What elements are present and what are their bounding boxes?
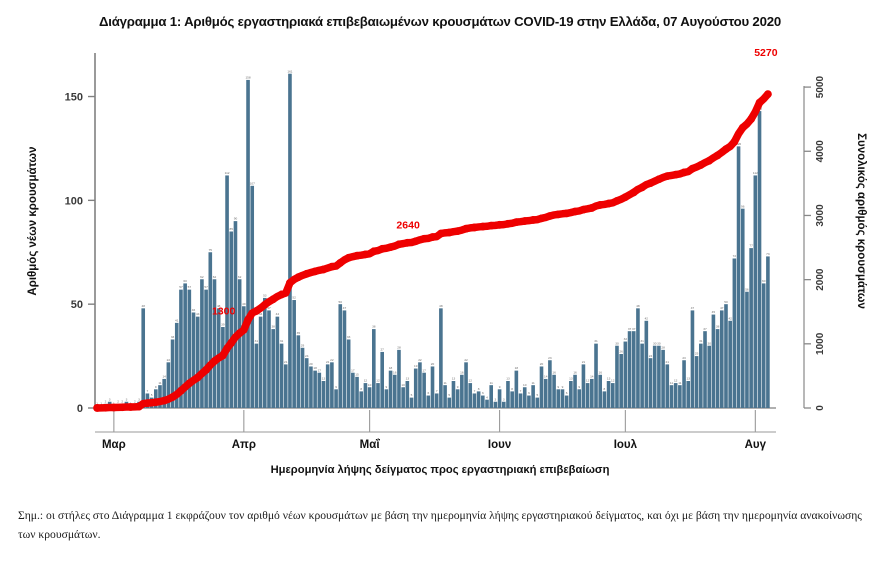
bar — [221, 327, 225, 408]
bar — [691, 310, 695, 408]
cumulative-point — [211, 357, 219, 365]
cumulative-point — [521, 217, 529, 225]
cumulative-point — [747, 115, 755, 123]
bar — [389, 371, 393, 408]
tick-label: Αυγ — [745, 439, 767, 451]
bar — [422, 373, 426, 408]
bar — [468, 383, 472, 408]
bar — [754, 175, 758, 408]
bar — [460, 375, 464, 408]
bar-value-label: 60 — [762, 279, 766, 283]
bar — [573, 375, 577, 408]
bar — [766, 256, 770, 408]
bar — [670, 385, 674, 408]
cumulative-point — [261, 301, 269, 309]
bar — [657, 346, 661, 408]
bar — [569, 381, 573, 408]
bar — [213, 279, 217, 408]
bar — [276, 317, 280, 408]
cumulative-point — [756, 99, 764, 107]
bar — [523, 387, 527, 408]
bar — [188, 290, 192, 408]
bar — [649, 358, 653, 408]
bar-value-label: 52 — [292, 296, 296, 300]
bar — [762, 283, 766, 408]
bar-value-label: 6 — [566, 391, 568, 395]
bar — [548, 360, 552, 408]
bar — [280, 344, 284, 408]
bar-value-label: 9 — [155, 385, 157, 389]
bar-value-label: 31 — [594, 339, 598, 343]
bar-value-label: 38 — [271, 325, 275, 329]
bar-value-label: 77 — [749, 244, 753, 248]
bar-value-label: 8 — [360, 387, 362, 391]
bar — [288, 74, 292, 408]
bar — [640, 344, 644, 408]
bar-value-label: 38 — [716, 325, 720, 329]
bar-value-label: 18 — [389, 366, 393, 370]
cumulative-point — [613, 197, 621, 205]
bar — [452, 381, 456, 408]
bar-value-label: 6 — [482, 391, 484, 395]
bar — [615, 346, 619, 408]
line-annotation: 1300 — [212, 306, 236, 318]
bar-value-label: 19 — [414, 364, 418, 368]
bar-value-label: 50 — [724, 300, 728, 304]
bar — [510, 391, 514, 408]
cumulative-point — [621, 193, 629, 201]
bar — [598, 375, 602, 408]
bar-value-label: 21 — [326, 360, 330, 364]
bar-value-label: 53 — [263, 294, 267, 298]
cumulative-point — [739, 124, 747, 132]
bar-value-label: 24 — [305, 354, 309, 358]
bar — [682, 360, 686, 408]
bar — [250, 186, 254, 408]
bar-value-label: 13 — [607, 377, 611, 381]
bar — [326, 364, 330, 408]
bar-value-label: 62 — [238, 275, 242, 279]
bar-value-label: 25 — [695, 352, 699, 356]
bar — [590, 379, 594, 408]
bar-value-label: 48 — [636, 304, 640, 308]
bar-value-label: 31 — [280, 339, 284, 343]
bar — [255, 344, 259, 408]
tick-label: 150 — [65, 92, 83, 104]
bar — [741, 209, 745, 408]
bar — [674, 383, 678, 408]
bar — [456, 389, 460, 408]
bar-value-label: 57 — [188, 285, 192, 289]
bar — [712, 315, 716, 408]
bar — [477, 391, 481, 408]
cumulative-point — [269, 295, 277, 303]
bar-value-label: 30 — [615, 341, 619, 345]
cumulative-point — [311, 267, 319, 275]
cumulative-point — [655, 175, 663, 183]
bar — [418, 362, 422, 408]
bar — [343, 310, 347, 408]
bar — [619, 354, 623, 408]
bar-value-label: 29 — [301, 343, 305, 347]
bar-value-label: 16 — [460, 370, 464, 374]
cumulative-point — [647, 179, 655, 187]
tick-label: Ιουλ — [614, 439, 638, 451]
bar-value-label: 20 — [540, 362, 544, 366]
bar — [758, 111, 762, 408]
cumulative-point — [512, 218, 520, 226]
cumulative-point — [286, 279, 294, 287]
bar-value-label: 13 — [452, 377, 456, 381]
bar-value-label: 20 — [309, 362, 313, 366]
cumulative-point — [705, 157, 713, 165]
cumulative-point — [588, 204, 596, 212]
cumulative-point — [345, 254, 353, 262]
cumulative-point — [764, 90, 772, 98]
bar-value-label: 22 — [330, 358, 334, 362]
bar-value-label: 13 — [687, 377, 691, 381]
bar — [565, 396, 569, 408]
bar — [259, 317, 263, 408]
bar — [749, 248, 753, 408]
bar — [611, 383, 615, 408]
bar — [305, 358, 309, 408]
bar — [506, 381, 510, 408]
bar-value-label: 30 — [657, 341, 661, 345]
bar — [703, 331, 707, 408]
bar-value-label: 38 — [372, 325, 376, 329]
bar — [695, 356, 699, 408]
cumulative-point — [370, 247, 378, 255]
bar-value-label: 24 — [649, 354, 653, 358]
bar-value-label: 12 — [376, 379, 380, 383]
bar — [372, 329, 376, 408]
bar-value-label: 75 — [209, 248, 213, 252]
bar-value-label: 3 — [503, 397, 505, 401]
bar-value-label: 5 — [411, 393, 413, 397]
cumulative-point — [638, 183, 646, 191]
bar — [724, 304, 728, 408]
bar-value-label: 10 — [368, 383, 372, 387]
bar — [368, 387, 372, 408]
bar — [665, 364, 669, 408]
cumulative-point — [529, 216, 537, 224]
bar-value-label: 28 — [661, 345, 665, 349]
bar-value-label: 21 — [284, 360, 288, 364]
cumulative-point — [412, 237, 420, 245]
bar — [632, 331, 636, 408]
cumulative-point — [680, 169, 688, 177]
bar-value-label: 11 — [443, 381, 446, 385]
bar — [447, 398, 451, 408]
bar-value-label: 11 — [532, 381, 535, 385]
bar — [686, 381, 690, 408]
cumulative-point — [169, 393, 177, 401]
bar-value-label: 37 — [628, 327, 632, 331]
cumulative-point — [429, 233, 437, 241]
bar-value-label: 13 — [569, 377, 573, 381]
bar-value-label: 13 — [406, 377, 410, 381]
bar — [355, 377, 359, 408]
cumulative-point — [395, 240, 403, 248]
bar-value-label: 21 — [666, 360, 670, 364]
bar — [427, 396, 431, 408]
bar-value-label: 31 — [699, 339, 703, 343]
bar — [318, 373, 322, 408]
cumulative-point — [102, 404, 110, 412]
chart-plot-area: 0501001500100020003000400050001123122312… — [0, 0, 880, 500]
bar-value-label: 9 — [499, 385, 501, 389]
bar-value-label: 57 — [179, 285, 183, 289]
bar — [481, 396, 485, 408]
bar-value-label: 158 — [245, 76, 250, 80]
bar-value-label: 90 — [234, 217, 238, 221]
bar-value-label: 72 — [733, 254, 737, 258]
bar-value-label: 62 — [200, 275, 204, 279]
cumulative-point — [479, 223, 487, 231]
cumulative-point — [730, 138, 738, 146]
bar-value-label: 17 — [318, 368, 322, 372]
bar — [204, 290, 208, 408]
bar-value-label: 12 — [611, 379, 615, 383]
bar-value-label: 3 — [109, 397, 111, 401]
cumulative-point — [320, 266, 328, 274]
cumulative-point — [487, 222, 495, 230]
bar — [246, 80, 250, 408]
bar-value-label: 96 — [741, 204, 745, 208]
cumulative-point — [328, 263, 336, 271]
bar — [301, 348, 305, 408]
bar-value-label: 11 — [670, 381, 673, 385]
bar-value-label: 13 — [506, 377, 510, 381]
bar — [586, 383, 590, 408]
bar-value-label: 41 — [175, 318, 179, 322]
bar — [473, 393, 477, 408]
bar — [410, 398, 414, 408]
cumulative-point — [445, 229, 453, 237]
bar — [498, 389, 502, 408]
bar — [271, 329, 275, 408]
bar-value-label: 18 — [313, 366, 317, 370]
bar — [376, 383, 380, 408]
cumulative-point — [462, 225, 470, 233]
bar-value-label: 7 — [147, 389, 149, 393]
bar-value-label: 4 — [486, 395, 488, 399]
bar-value-label: 18 — [515, 366, 519, 370]
cumulative-point — [93, 404, 101, 412]
bar — [733, 258, 737, 408]
bar — [439, 308, 443, 408]
bar-value-label: 161 — [287, 69, 292, 73]
cumulative-point — [546, 212, 554, 220]
bar — [297, 335, 301, 408]
bar-value-label: 13 — [322, 377, 326, 381]
bar-value-label: 5 — [536, 393, 538, 397]
bar-value-label: 9 — [557, 385, 559, 389]
bar-value-label: 44 — [276, 312, 280, 316]
bar — [267, 310, 271, 408]
cumulative-point — [554, 210, 562, 218]
bar — [556, 389, 560, 408]
cumulative-point — [253, 307, 261, 315]
bar — [443, 385, 447, 408]
bar-value-label: 9 — [335, 385, 337, 389]
bar-value-label: 17 — [351, 368, 355, 372]
line-annotation: 5270 — [754, 47, 778, 59]
line-annotation: 2640 — [396, 220, 420, 232]
bar — [720, 310, 724, 408]
bar-value-label: 57 — [204, 285, 208, 289]
bar-value-label: 23 — [682, 356, 686, 360]
bar-value-label: 30 — [707, 341, 711, 345]
tick-label: Ιουν — [488, 439, 511, 451]
bar-value-label: 14 — [544, 375, 548, 379]
cumulative-point — [336, 259, 344, 267]
bar-value-label: 15 — [355, 372, 359, 376]
bar — [208, 252, 212, 408]
tick-label: 0 — [815, 405, 826, 411]
cumulative-point — [571, 208, 579, 216]
cumulative-point — [110, 404, 118, 412]
bar-value-label: 6 — [427, 391, 429, 395]
bar-value-label: 3 — [126, 397, 128, 401]
bar-value-label: 9 — [562, 385, 564, 389]
bar-value-label: 12 — [586, 379, 590, 383]
cumulative-point — [160, 397, 168, 405]
bar — [196, 317, 200, 408]
bar-value-label: 2 — [134, 399, 136, 403]
bar-value-label: 22 — [167, 358, 171, 362]
bar-value-label: 48 — [439, 304, 443, 308]
cumulative-point — [236, 329, 244, 337]
bar-value-label: 22 — [464, 358, 468, 362]
bar — [380, 352, 384, 408]
bar-value-label: 56 — [745, 287, 749, 291]
tick-label: 50 — [71, 299, 83, 311]
bar-value-label: 21 — [582, 360, 586, 364]
bar-value-label: 26 — [619, 350, 623, 354]
bar — [435, 393, 439, 408]
bar — [661, 350, 665, 408]
bar — [334, 389, 338, 408]
bar-value-label: 7 — [436, 389, 438, 393]
bar — [309, 366, 313, 408]
bar-value-label: 112 — [225, 171, 230, 175]
bar-value-label: 28 — [397, 345, 401, 349]
bar — [406, 381, 410, 408]
bar-value-label: 11 — [490, 381, 493, 385]
cumulative-point — [202, 366, 210, 374]
cumulative-point — [194, 374, 202, 382]
bar-value-label: 16 — [552, 370, 556, 374]
bar — [716, 329, 720, 408]
cumulative-point — [135, 403, 143, 411]
cumulative-point — [697, 161, 705, 169]
bar-value-label: 33 — [347, 335, 351, 339]
bar-value-label: 5 — [151, 393, 153, 397]
bar-value-label: 9 — [386, 385, 388, 389]
tick-label: Απρ — [232, 439, 256, 451]
cumulative-point — [227, 339, 235, 347]
bar — [322, 381, 326, 408]
cumulative-point — [496, 221, 504, 229]
bar — [577, 389, 581, 408]
bar-value-label: 31 — [255, 339, 259, 343]
bar-value-label: 12 — [674, 379, 678, 383]
bar-value-label: 62 — [213, 275, 217, 279]
bar — [351, 373, 355, 408]
bar-value-label: 10 — [401, 383, 405, 387]
bar — [636, 308, 640, 408]
bar — [313, 371, 317, 408]
bar — [141, 308, 145, 408]
tick-label: 100 — [65, 195, 83, 207]
bar — [561, 389, 565, 408]
bar-value-label: 14 — [590, 375, 594, 379]
cumulative-point — [605, 200, 613, 208]
bar — [536, 398, 540, 408]
cumulative-point — [185, 379, 193, 387]
cumulative-point — [244, 316, 252, 324]
bar — [225, 175, 229, 408]
bar — [485, 400, 489, 408]
bar — [728, 321, 732, 408]
cumulative-point — [538, 214, 546, 222]
bar-value-label: 14 — [162, 375, 166, 379]
bar — [200, 279, 204, 408]
bar — [401, 387, 405, 408]
bar-value-label: 2 — [105, 399, 107, 403]
bar — [552, 375, 556, 408]
cumulative-point — [504, 220, 512, 228]
cumulative-point — [672, 171, 680, 179]
bar-value-label: 7 — [474, 389, 476, 393]
bar-value-label: 16 — [393, 370, 397, 374]
bar-value-label: 20 — [431, 362, 435, 366]
cumulative-point — [362, 251, 370, 259]
tick-label: 3000 — [815, 204, 826, 227]
cumulative-point — [580, 206, 588, 214]
tick-label: 1000 — [815, 332, 826, 355]
cumulative-point — [471, 224, 479, 232]
bar-value-label: 85 — [230, 227, 234, 231]
bar-value-label: 9 — [578, 385, 580, 389]
bar — [603, 391, 607, 408]
bar-value-label: 8 — [478, 387, 480, 391]
bar — [431, 366, 435, 408]
bar — [263, 298, 267, 408]
bar — [653, 346, 657, 408]
bar — [364, 383, 368, 408]
cumulative-point — [630, 189, 638, 197]
bar-value-label: 7 — [520, 389, 522, 393]
cumulative-point — [722, 145, 730, 153]
cumulative-point — [689, 165, 697, 173]
bar-value-label: 12 — [469, 379, 473, 383]
bar — [464, 362, 468, 408]
cumulative-point — [177, 387, 185, 395]
bar-value-label: 27 — [380, 348, 384, 352]
bar-value-label: 11 — [678, 381, 681, 385]
bar — [607, 381, 611, 408]
bar-value-label: 9 — [457, 385, 459, 389]
bar — [359, 391, 363, 408]
bar-value-label: 6 — [528, 391, 530, 395]
bar-value-label: 42 — [645, 316, 649, 320]
bar — [540, 366, 544, 408]
bar — [707, 346, 711, 408]
cumulative-point — [144, 399, 152, 407]
